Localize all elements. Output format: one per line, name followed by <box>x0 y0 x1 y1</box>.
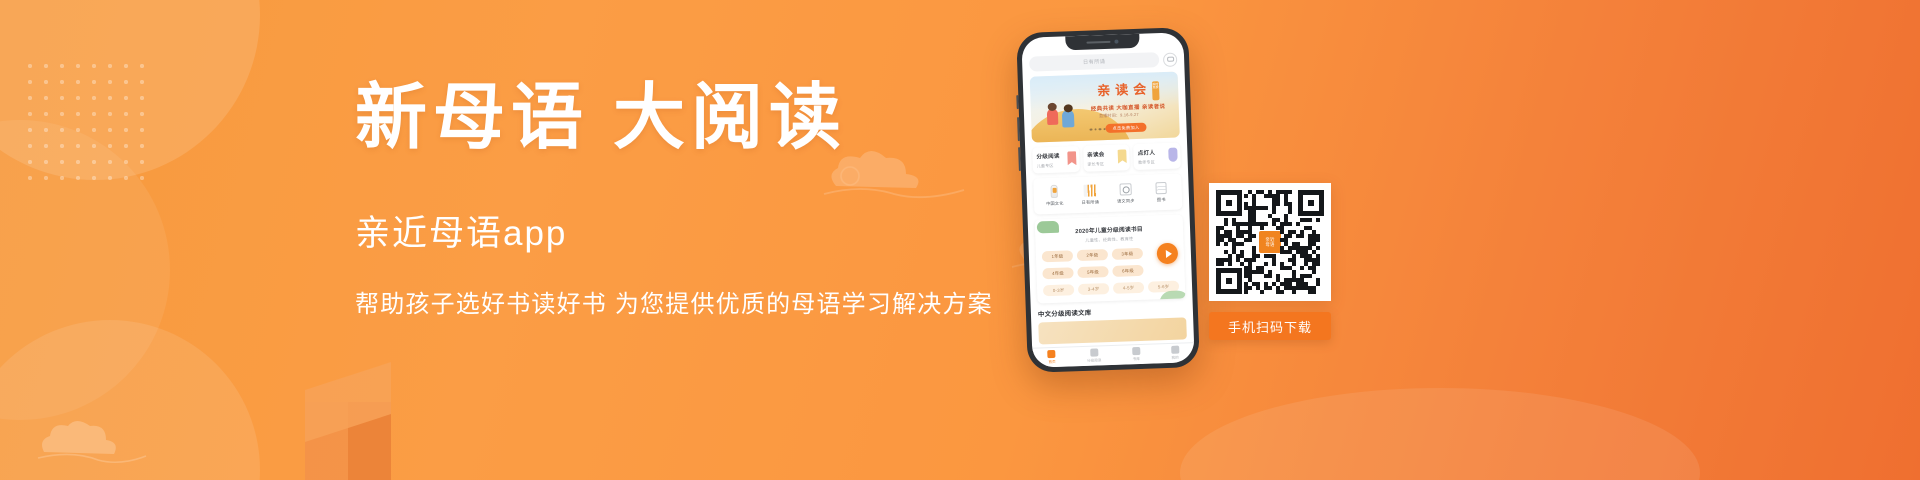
hero-ribbon-badge: 限时免费 <box>1152 81 1160 100</box>
quick-link-label: 中国文化 <box>1046 201 1064 208</box>
app-name: 亲近母语app <box>355 205 1015 256</box>
person-icon <box>1168 148 1177 162</box>
download-button[interactable]: 手机扫码下载 <box>1209 312 1331 340</box>
age-chip[interactable]: 4-5岁 <box>1113 282 1144 294</box>
quick-link-label: 日有所诵 <box>1081 199 1099 206</box>
qr-code-card: 亲近 母语 <box>1209 183 1331 301</box>
decorative-ground-ellipse <box>1180 388 1700 480</box>
section-subtitle: 儿童性、经典性、教育性 <box>1041 235 1177 246</box>
bottom-tab-bar: 首页 分级阅读 书库 我的 <box>1032 342 1195 368</box>
phone-notch <box>1065 34 1139 51</box>
grade-chip[interactable]: 1年级 <box>1042 250 1073 262</box>
age-chip[interactable]: 0-3岁 <box>1043 284 1074 296</box>
graded-booklist-section: 2020年儿童分级阅读书目 儿童性、经典性、教育性 1年级 2年级 3年级 4年… <box>1035 214 1186 303</box>
hero-title-char-2: 读 <box>1114 82 1130 98</box>
age-chip[interactable]: 3-4岁 <box>1078 283 1109 295</box>
card-lamplighter[interactable]: 点灯人 教师专区 <box>1133 142 1181 170</box>
front-camera-icon <box>1114 40 1118 44</box>
hero-dates: 直播时间：9.16-9.27 <box>1099 112 1139 119</box>
decorative-dot-grid <box>22 58 154 186</box>
speaker-icon <box>1086 41 1110 44</box>
quick-link-culture[interactable]: 中国文化 <box>1038 184 1071 207</box>
cloud-icon-left <box>36 412 156 464</box>
tab-label: 首页 <box>1048 360 1055 365</box>
card-reading-club[interactable]: 亲读会 家长专区 <box>1083 144 1131 172</box>
tab-label: 我的 <box>1171 355 1178 360</box>
quick-link-label: 语文同步 <box>1117 198 1135 205</box>
book-icon <box>1154 181 1167 194</box>
phone-volume-up-button <box>1017 117 1020 141</box>
hero-title: 亲 读 会 限时免费 <box>1096 81 1160 102</box>
phone-screen: 日有所诵 亲 读 会 限时免费 经典共读 大咖直播 <box>1021 32 1194 367</box>
hero-title-char-1: 亲 <box>1096 83 1112 99</box>
quick-links-row: 中国文化 日有所诵 语文同步 图书 <box>1033 173 1182 214</box>
phone-volume-down-button <box>1018 147 1021 171</box>
leaf-decoration-icon <box>1037 221 1059 234</box>
search-row: 日有所诵 <box>1029 52 1177 72</box>
grade-chip[interactable]: 6年级 <box>1112 265 1143 277</box>
tab-home[interactable]: 首页 <box>1048 350 1057 365</box>
search-placeholder: 日有所诵 <box>1083 58 1106 66</box>
library-preview-strip[interactable] <box>1038 317 1187 344</box>
quick-link-books[interactable]: 图书 <box>1145 181 1178 204</box>
tab-graded-reading[interactable]: 分级阅读 <box>1087 349 1102 364</box>
banner-copy: 新母语 大阅读 亲近母语app 帮助孩子选好书读好书 为您提供优质的母语学习解决… <box>355 78 1015 319</box>
grade-chip[interactable]: 3年级 <box>1112 248 1143 260</box>
search-input[interactable]: 日有所诵 <box>1029 52 1159 72</box>
tab-library[interactable]: 书库 <box>1132 347 1141 362</box>
quick-link-label: 图书 <box>1157 197 1166 203</box>
category-cards: 分级阅读 儿童专区 亲读会 家长专区 点灯人 教师专区 <box>1032 142 1181 173</box>
card-graded-reading[interactable]: 分级阅读 儿童专区 <box>1032 146 1080 174</box>
tab-label: 分级阅读 <box>1087 358 1102 363</box>
section-title: 2020年儿童分级阅读书目 <box>1041 223 1177 237</box>
qr-finder-bottom-left <box>1216 268 1242 294</box>
promo-banner: 新母语 大阅读 亲近母语app 帮助孩子选好书读好书 为您提供优质的母语学习解决… <box>0 0 1920 480</box>
hero-child-illustration-a <box>1047 109 1059 125</box>
age-chip-row: 0-3岁 3-4岁 4-5岁 5-6岁 <box>1043 281 1179 297</box>
library-icon <box>1132 347 1140 355</box>
grade-chip[interactable]: 4年级 <box>1042 267 1073 279</box>
banner-tagline: 帮助孩子选好书读好书 为您提供优质的母语学习解决方案 <box>355 284 1015 319</box>
grade-chip-row-2: 4年级 5年级 6年级 <box>1042 264 1178 280</box>
hero-child-illustration-b <box>1062 110 1075 127</box>
qr-finder-top-left <box>1216 190 1242 216</box>
quick-link-sync[interactable]: 语文同步 <box>1109 182 1142 205</box>
phone-mute-button <box>1016 95 1018 109</box>
reading-icon <box>1090 349 1098 357</box>
library-title: 中文分级阅读文库 <box>1038 304 1186 318</box>
play-video-icon[interactable] <box>1157 243 1179 265</box>
home-icon <box>1048 350 1056 358</box>
recite-icon <box>1083 183 1096 196</box>
app-screen-content: 日有所诵 亲 读 会 限时免费 经典共读 大咖直播 <box>1021 32 1194 367</box>
hero-subtitle: 经典共读 大咖直播 亲读者说 <box>1091 102 1166 113</box>
tab-label: 书库 <box>1133 357 1140 362</box>
decorative-cube <box>305 402 391 480</box>
grade-chip[interactable]: 5年级 <box>1077 266 1108 278</box>
qr-download-block: 亲近 母语 手机扫码下载 <box>1209 183 1331 340</box>
quick-link-recite[interactable]: 日有所诵 <box>1074 183 1107 206</box>
leaf-decoration-icon <box>1159 290 1185 303</box>
chip-spacer <box>1147 264 1178 276</box>
grade-chip[interactable]: 2年级 <box>1077 249 1108 261</box>
hero-title-char-3: 会 <box>1132 82 1148 98</box>
qr-code-image: 亲近 母语 <box>1216 190 1324 294</box>
hero-cta-button[interactable]: 点击免费加入 <box>1105 123 1146 133</box>
phone-mockup: 日有所诵 亲 读 会 限时免费 经典共读 大咖直播 <box>1016 27 1200 373</box>
tab-profile[interactable]: 我的 <box>1171 346 1180 361</box>
culture-icon <box>1048 185 1061 198</box>
qr-finder-top-right <box>1298 190 1324 216</box>
message-icon[interactable] <box>1163 52 1177 66</box>
hero-banner[interactable]: 亲 读 会 限时免费 经典共读 大咖直播 亲读者说 直播时间：9.16-9.27… <box>1030 71 1180 142</box>
qr-logo-line-2: 母语 <box>1265 242 1274 247</box>
page-title: 新母语 大阅读 <box>355 78 1015 159</box>
sync-icon <box>1119 182 1132 195</box>
profile-icon <box>1171 346 1179 354</box>
